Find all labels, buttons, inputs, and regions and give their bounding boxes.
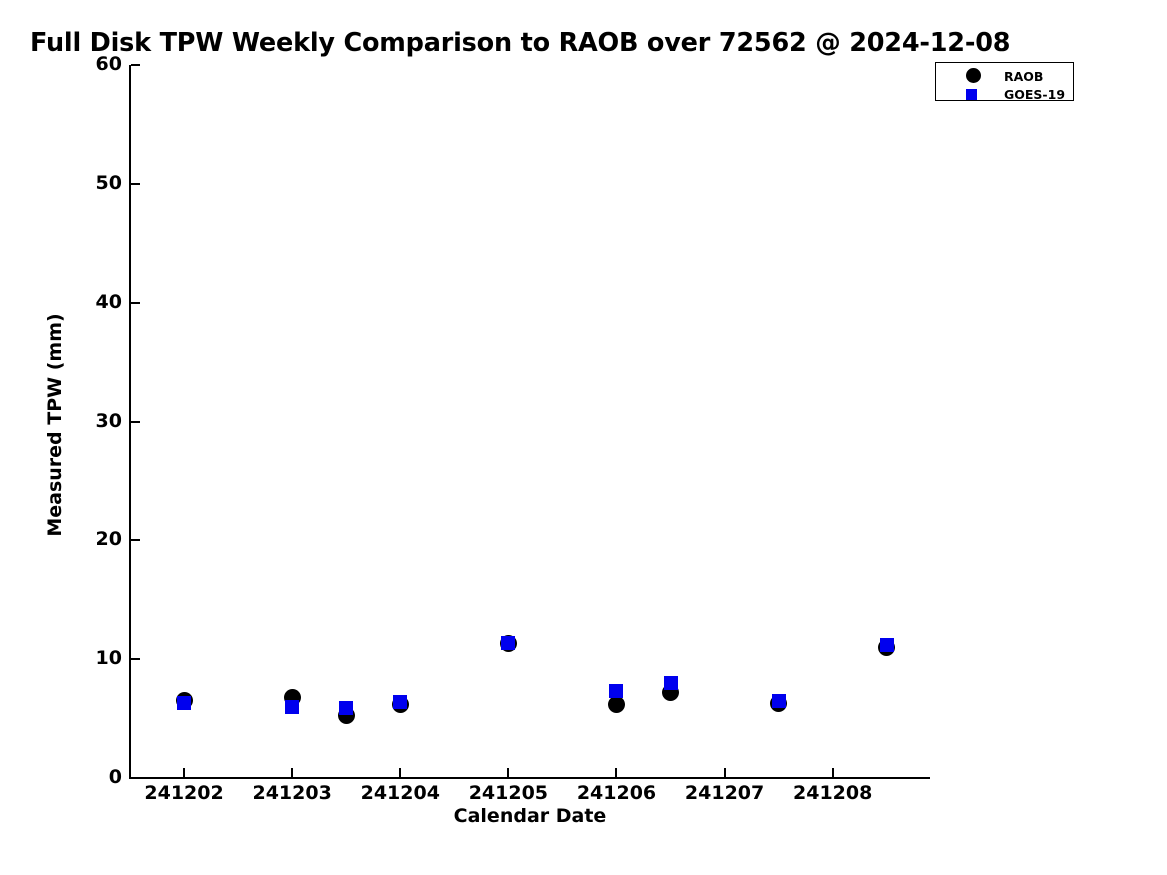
data-point-goes-19 — [772, 694, 786, 708]
y-axis-tick-label: 50 — [62, 172, 122, 194]
legend-circle-icon — [966, 68, 981, 83]
y-axis-title: Measured TPW (mm) — [44, 285, 66, 565]
y-axis-tick — [131, 64, 140, 66]
chart-title: Full Disk TPW Weekly Comparison to RAOB … — [30, 28, 1010, 58]
x-axis-line — [129, 777, 930, 779]
data-point-goes-19 — [339, 701, 353, 715]
data-point-goes-19 — [880, 638, 894, 652]
y-axis-tick — [131, 658, 140, 660]
data-point-goes-19 — [393, 695, 407, 709]
y-axis-tick-label: 10 — [62, 647, 122, 669]
x-axis-tick — [832, 768, 834, 777]
x-axis-tick — [183, 768, 185, 777]
y-axis-tick — [131, 539, 140, 541]
y-axis-tick — [131, 183, 140, 185]
x-axis-title: Calendar Date — [330, 805, 730, 827]
x-axis-tick-label: 241208 — [763, 782, 903, 804]
chart-figure: Full Disk TPW Weekly Comparison to RAOB … — [0, 0, 1167, 875]
x-axis-tick — [724, 768, 726, 777]
y-axis-tick — [131, 777, 140, 779]
y-axis-tick — [131, 302, 140, 304]
chart-legend: RAOBGOES-19 — [935, 62, 1074, 101]
x-axis-tick — [507, 768, 509, 777]
legend-entry: GOES-19 — [936, 85, 1075, 103]
data-point-goes-19 — [664, 676, 678, 690]
y-axis-tick-label: 0 — [62, 766, 122, 788]
legend-entry: RAOB — [936, 67, 1075, 85]
data-point-goes-19 — [609, 684, 623, 698]
x-axis-tick — [615, 768, 617, 777]
legend-square-icon — [966, 89, 977, 100]
data-point-raob — [608, 696, 625, 713]
data-point-goes-19 — [177, 696, 191, 710]
legend-label: RAOB — [1004, 69, 1043, 84]
y-axis-tick — [131, 421, 140, 423]
y-axis-tick-label: 20 — [62, 528, 122, 550]
x-axis-tick — [399, 768, 401, 777]
y-axis-tick-label: 30 — [62, 410, 122, 432]
y-axis-tick-label: 40 — [62, 291, 122, 313]
legend-label: GOES-19 — [1004, 87, 1065, 102]
x-axis-tick — [291, 768, 293, 777]
y-axis-tick-label: 60 — [62, 53, 122, 75]
data-point-goes-19 — [285, 700, 299, 714]
data-point-goes-19 — [501, 636, 515, 650]
